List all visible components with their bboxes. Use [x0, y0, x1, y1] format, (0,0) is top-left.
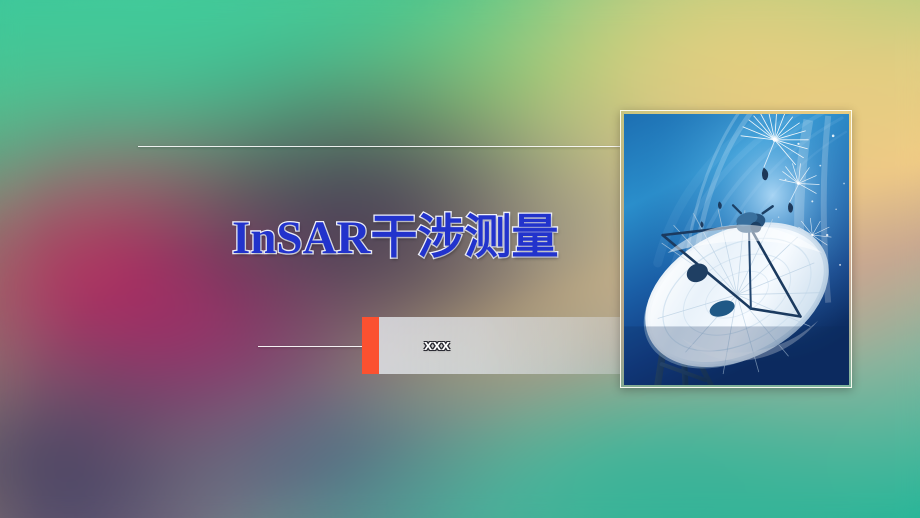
satellite-dish-image [624, 114, 849, 385]
title-divider-line [138, 146, 620, 147]
page-title: InSAR干涉测量 [232, 198, 558, 267]
presentation-title-slide: InSAR干涉测量 xxx [0, 0, 920, 518]
subtitle-bar [362, 317, 620, 374]
subtitle-divider-line [258, 346, 363, 347]
satellite-dish-illustration [624, 114, 849, 385]
cover-image-frame [620, 110, 852, 388]
subtitle-text: xxx [424, 337, 451, 354]
subtitle-accent-block [362, 317, 379, 374]
